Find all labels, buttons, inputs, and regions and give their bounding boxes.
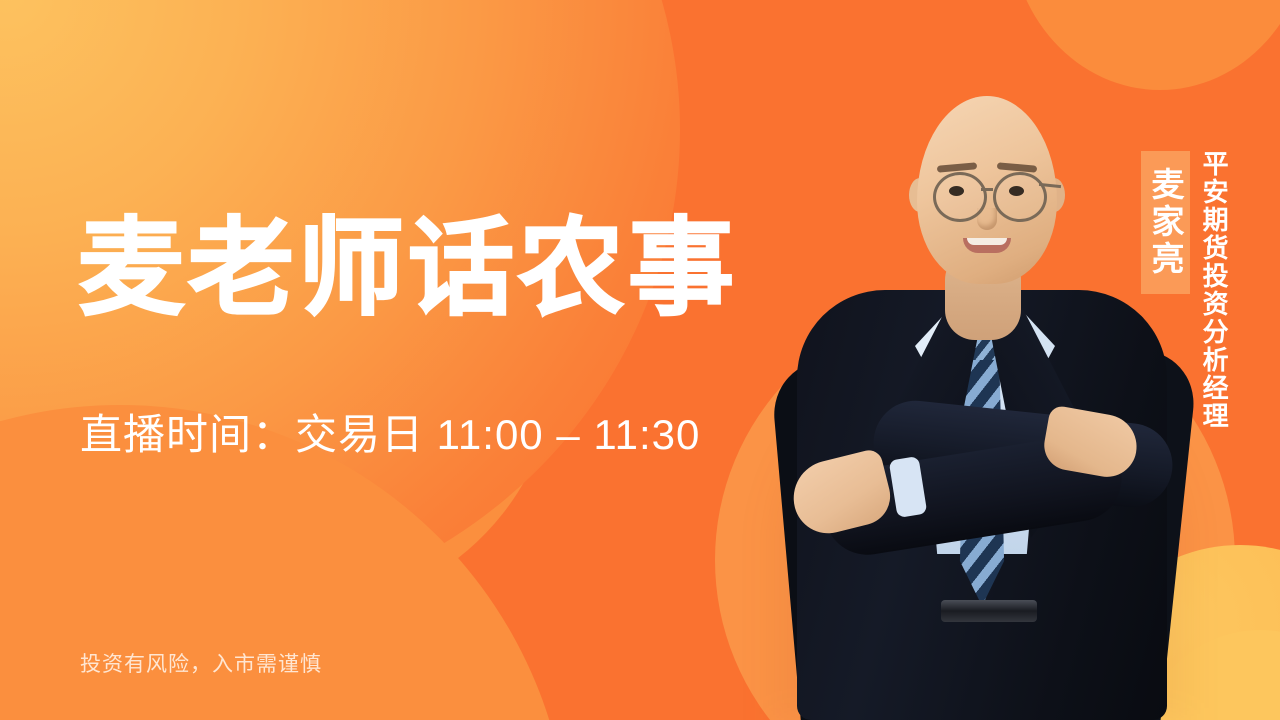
speaker-name: 麦家亮 <box>1149 167 1182 278</box>
speaker-role: 平安期货投资分析经理 <box>1200 150 1228 430</box>
teeth-icon <box>967 238 1007 245</box>
risk-disclaimer-text: 投资有风险，入市需谨慎 <box>80 650 322 679</box>
eyeglasses-bridge-icon <box>981 188 993 191</box>
broadcast-schedule-text: 直播时间：交易日 11:00 – 11:30 <box>80 408 700 463</box>
nose-icon <box>977 208 997 230</box>
mouth-icon <box>963 238 1011 253</box>
portrait-container <box>0 0 1280 720</box>
page-title: 麦老师话农事 <box>78 210 738 329</box>
eyeglasses-lens-right-icon <box>993 172 1047 222</box>
speaker-name-badge: 麦家亮 <box>1141 151 1190 294</box>
live-stream-poster: 麦老师话农事 直播时间：交易日 11:00 – 11:30 投资有风险，入市需谨… <box>0 0 1280 720</box>
belt-buckle-icon <box>941 600 1037 622</box>
